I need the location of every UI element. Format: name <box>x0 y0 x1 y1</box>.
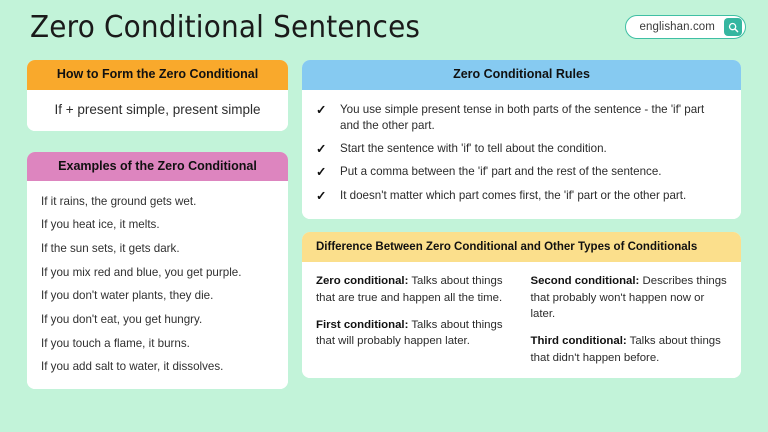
infographic-page: Zero Conditional Sentences englishan.com… <box>0 0 768 432</box>
term-label: Second conditional: <box>531 275 640 287</box>
page-header: Zero Conditional Sentences englishan.com <box>0 0 768 54</box>
list-item: If you touch a flame, it burns. <box>41 332 274 356</box>
rules-list: ✓ You use simple present tense in both p… <box>302 90 741 219</box>
term-label: First conditional: <box>316 319 408 331</box>
rule-text: Put a comma between the 'if' part and th… <box>340 164 725 180</box>
right-column: Zero Conditional Rules ✓ You use simple … <box>302 60 741 378</box>
check-icon: ✓ <box>316 102 340 120</box>
list-item: If you don't water plants, they die. <box>41 285 274 309</box>
rules-card: Zero Conditional Rules ✓ You use simple … <box>302 60 741 219</box>
search-icon[interactable] <box>724 18 742 36</box>
list-item: Zero conditional: Talks about things tha… <box>316 273 513 306</box>
left-column: How to Form the Zero Conditional If + pr… <box>27 60 288 389</box>
list-item: Second conditional: Describes things tha… <box>531 273 728 322</box>
check-icon: ✓ <box>316 164 340 182</box>
rule-text: Start the sentence with 'if' to tell abo… <box>340 141 725 157</box>
difference-card-body: Zero conditional: Talks about things tha… <box>302 262 741 378</box>
how-to-form-card-body: If + present simple, present simple <box>27 90 288 131</box>
list-item: Third conditional: Talks about things th… <box>531 333 728 366</box>
list-item: First conditional: Talks about things th… <box>316 317 513 350</box>
site-badge-label: englishan.com <box>640 21 715 33</box>
difference-left-column: Zero conditional: Talks about things tha… <box>316 273 513 366</box>
rule-text: You use simple present tense in both par… <box>340 102 725 135</box>
list-item: If you don't eat, you get hungry. <box>41 308 274 332</box>
list-item: If you add salt to water, it dissolves. <box>41 356 274 380</box>
page-title: Zero Conditional Sentences <box>30 10 420 45</box>
list-item: ✓ You use simple present tense in both p… <box>316 99 725 138</box>
how-to-form-card-heading: How to Form the Zero Conditional <box>27 60 288 90</box>
how-to-form-card: How to Form the Zero Conditional If + pr… <box>27 60 288 131</box>
list-item: If you heat ice, it melts. <box>41 214 274 238</box>
examples-card-heading: Examples of the Zero Conditional <box>27 152 288 182</box>
list-item: ✓ Put a comma between the 'if' part and … <box>316 161 725 185</box>
list-item: ✓ Start the sentence with 'if' to tell a… <box>316 138 725 162</box>
rules-card-heading: Zero Conditional Rules <box>302 60 741 90</box>
difference-card: Difference Between Zero Conditional and … <box>302 232 741 378</box>
examples-card: Examples of the Zero Conditional If it r… <box>27 152 288 390</box>
examples-list: If it rains, the ground gets wet. If you… <box>27 181 288 389</box>
difference-card-heading: Difference Between Zero Conditional and … <box>302 232 741 262</box>
list-item: If the sun sets, it gets dark. <box>41 238 274 262</box>
check-icon: ✓ <box>316 188 340 206</box>
difference-right-column: Second conditional: Describes things tha… <box>531 273 728 366</box>
check-icon: ✓ <box>316 141 340 159</box>
term-label: Third conditional: <box>531 335 627 347</box>
list-item: If it rains, the ground gets wet. <box>41 190 274 214</box>
term-label: Zero conditional: <box>316 275 408 287</box>
zero-conditional-formula: If + present simple, present simple <box>27 90 288 131</box>
list-item: ✓ It doesn't matter which part comes fir… <box>316 185 725 209</box>
list-item: If you mix red and blue, you get purple. <box>41 261 274 285</box>
rule-text: It doesn't matter which part comes first… <box>340 188 725 204</box>
site-badge[interactable]: englishan.com <box>625 15 746 39</box>
